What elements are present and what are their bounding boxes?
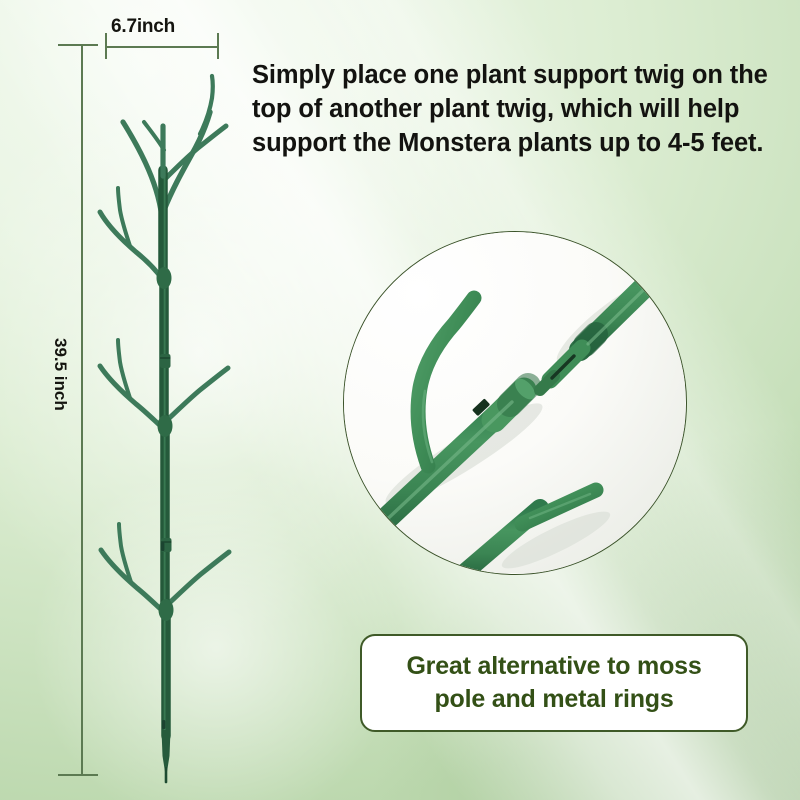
height-dimension-label: 39.5 inch <box>50 338 70 411</box>
width-dimension-line <box>105 46 219 48</box>
product-closeup-photo <box>343 231 687 575</box>
feature-callout-line-2: pole and metal rings <box>434 685 673 713</box>
feature-callout-text: Great alternative to moss pole and metal… <box>406 650 701 716</box>
width-dimension-label: 6.7inch <box>111 16 175 38</box>
width-dimension-cap-left <box>105 33 107 59</box>
height-dimension-cap-bottom <box>58 774 98 776</box>
description-paragraph: Simply place one plant support twig on t… <box>252 58 792 160</box>
feature-callout-line-1: Great alternative to moss <box>406 652 701 680</box>
width-dimension-cap-right <box>217 33 219 59</box>
plant-support-twig-illustration <box>60 30 280 790</box>
height-dimension-cap-top <box>58 44 98 46</box>
infographic-canvas: 6.7inch 39.5 inch Simply place one plant… <box>0 0 800 800</box>
height-dimension-line <box>81 44 83 776</box>
feature-callout-box: Great alternative to moss pole and metal… <box>360 634 748 732</box>
